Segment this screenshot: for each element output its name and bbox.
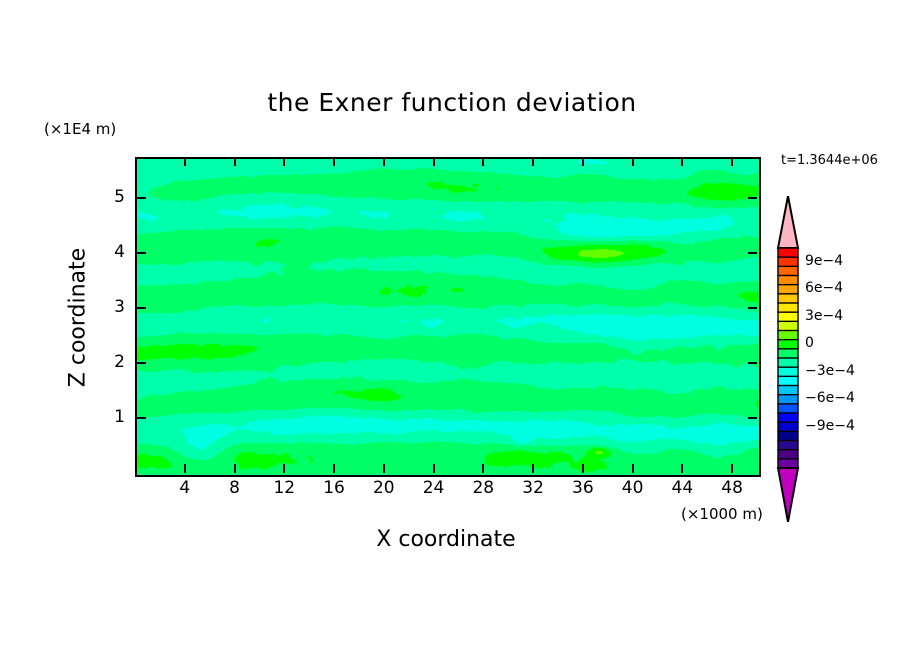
colorbar-under-arrow — [778, 468, 798, 522]
colorbar-band — [778, 276, 798, 286]
colorbar-tick-label: −9e−4 — [805, 418, 855, 434]
x-axis-tick — [681, 464, 683, 473]
colorbar-band — [778, 303, 798, 313]
colorbar-tick-label: −3e−4 — [805, 363, 855, 379]
colorbar-tick-label: 9e−4 — [805, 253, 843, 269]
y-axis-tick — [748, 417, 757, 419]
colorbar-band — [778, 312, 798, 322]
x-axis-tick — [333, 464, 335, 473]
colorbar-band — [778, 321, 798, 331]
x-axis-tick — [234, 157, 236, 166]
colorbar-band — [778, 413, 798, 423]
x-axis-tick-label: 48 — [712, 478, 752, 498]
colorbar — [770, 196, 818, 522]
x-axis-tick — [532, 464, 534, 473]
colorbar-tick-label: −6e−4 — [805, 390, 855, 406]
colorbar-band — [778, 331, 798, 341]
x-axis-tick-label: 36 — [563, 478, 603, 498]
y-axis-tick-label: 3 — [85, 297, 125, 317]
x-axis-tick-label: 4 — [165, 478, 205, 498]
y-axis-unit-label: (×1E4 m) — [44, 120, 116, 138]
y-axis-tick — [748, 252, 757, 254]
x-axis-unit-label: (×1000 m) — [681, 505, 763, 523]
colorbar-band — [778, 395, 798, 405]
x-axis-tick — [731, 157, 733, 166]
colorbar-tick-label: 6e−4 — [805, 280, 843, 296]
colorbar-tick-label: 0 — [805, 335, 814, 351]
colorbar-band — [778, 450, 798, 460]
x-axis-tick — [632, 464, 634, 473]
y-axis-tick — [137, 307, 146, 309]
colorbar-band — [778, 349, 798, 359]
x-axis-tick-label: 20 — [364, 478, 404, 498]
x-axis-tick — [184, 464, 186, 473]
y-axis-tick — [748, 307, 757, 309]
x-axis-tick — [681, 157, 683, 166]
x-axis-tick — [731, 464, 733, 473]
x-axis-tick — [582, 157, 584, 166]
colorbar-band — [778, 266, 798, 276]
colorbar-band — [778, 358, 798, 368]
colorbar-band — [778, 459, 798, 469]
x-axis-tick — [532, 157, 534, 166]
x-axis-tick — [283, 464, 285, 473]
colorbar-band — [778, 386, 798, 396]
colorbar-band — [778, 257, 798, 267]
x-axis-tick-label: 16 — [314, 478, 354, 498]
y-axis-tick — [137, 252, 146, 254]
x-axis-tick — [333, 157, 335, 166]
page-title: the Exner function deviation — [0, 88, 904, 117]
x-axis-title: X coordinate — [135, 527, 757, 552]
colorbar-band — [778, 431, 798, 441]
x-axis-tick — [283, 157, 285, 166]
y-axis-tick — [748, 197, 757, 199]
contour-plot-area — [135, 157, 761, 477]
x-axis-tick — [234, 464, 236, 473]
colorbar-band — [778, 367, 798, 377]
x-axis-tick-label: 12 — [264, 478, 304, 498]
x-axis-tick-label: 24 — [414, 478, 454, 498]
y-axis-tick-label: 4 — [85, 242, 125, 262]
colorbar-band — [778, 422, 798, 432]
x-axis-tick — [433, 464, 435, 473]
x-axis-tick — [482, 464, 484, 473]
y-axis-tick — [748, 362, 757, 364]
y-axis-tick-label: 2 — [85, 352, 125, 372]
y-axis-tick-label: 5 — [85, 187, 125, 207]
colorbar-band — [778, 404, 798, 414]
colorbar-band — [778, 294, 798, 304]
x-axis-tick — [383, 157, 385, 166]
x-axis-tick — [184, 157, 186, 166]
colorbar-band — [778, 285, 798, 295]
x-axis-tick — [482, 157, 484, 166]
time-stamp-label: t=1.3644e+06 — [781, 153, 878, 168]
y-axis-tick — [137, 417, 146, 419]
y-axis-tick — [137, 197, 146, 199]
x-axis-tick-label: 44 — [662, 478, 702, 498]
y-axis-tick-label: 1 — [85, 407, 125, 427]
colorbar-tick-label: 3e−4 — [805, 308, 843, 324]
y-axis-title: Z coordinate — [66, 218, 91, 418]
x-axis-tick-label: 32 — [513, 478, 553, 498]
x-axis-tick — [433, 157, 435, 166]
x-axis-tick — [582, 464, 584, 473]
x-axis-tick-label: 8 — [215, 478, 255, 498]
contour-field — [137, 159, 759, 475]
colorbar-band — [778, 248, 798, 258]
colorbar-band — [778, 340, 798, 350]
x-axis-tick — [383, 464, 385, 473]
x-axis-tick-label: 40 — [613, 478, 653, 498]
x-axis-tick-label: 28 — [463, 478, 503, 498]
colorbar-band — [778, 376, 798, 386]
y-axis-tick — [137, 362, 146, 364]
x-axis-tick — [632, 157, 634, 166]
colorbar-band — [778, 441, 798, 451]
colorbar-over-arrow — [778, 196, 798, 248]
figure-root: the Exner function deviation (×1E4 m) (×… — [0, 0, 904, 654]
